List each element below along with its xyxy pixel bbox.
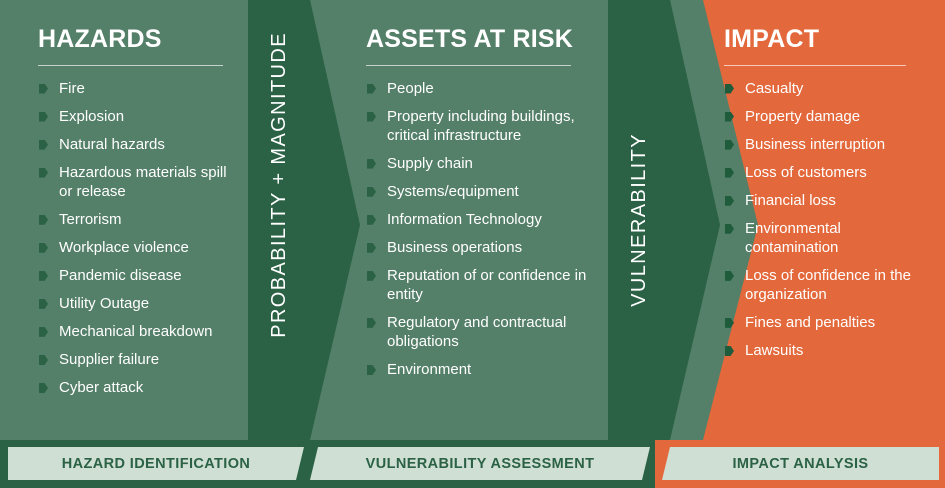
list-item-label: Utility Outage [59, 295, 149, 312]
arrow-bullet-icon [725, 168, 734, 178]
arrow-bullet-icon [725, 196, 734, 206]
list-item: Property including buildings, critical i… [366, 107, 598, 145]
list-item-label: Information Technology [387, 211, 542, 228]
arrow-bullet-icon [39, 112, 48, 122]
arrow-bullet-icon [367, 243, 376, 253]
impact-column: IMPACT Casualty Property damage Business… [724, 0, 924, 440]
hazards-list: Fire Explosion Natural hazards Hazardous… [38, 79, 243, 398]
list-item: Regulatory and contractual obligations [366, 313, 598, 351]
list-item-label: Natural hazards [59, 136, 165, 153]
list-item-label: Loss of customers [745, 164, 867, 181]
arrow-bullet-icon [725, 224, 734, 234]
list-item-label: Loss of confidence in the organization [745, 267, 911, 303]
list-item-label: Workplace violence [59, 239, 189, 256]
list-item: Loss of confidence in the organization [724, 266, 924, 304]
arrow-bullet-icon [39, 383, 48, 393]
list-item: Financial loss [724, 191, 924, 210]
list-item: Utility Outage [38, 294, 243, 313]
chevron-divider-vulnerability [608, 0, 720, 440]
process-footer-bar: HAZARD IDENTIFICATION VULNERABILITY ASSE… [0, 440, 945, 488]
list-item: Fines and penalties [724, 313, 924, 332]
list-item: Explosion [38, 107, 243, 126]
list-item-label: Business interruption [745, 136, 885, 153]
list-item-label: Regulatory and contractual obligations [387, 314, 566, 350]
list-item-label: Pandemic disease [59, 267, 182, 284]
arrow-bullet-icon [39, 327, 48, 337]
list-item: Property damage [724, 107, 924, 126]
list-item-label: Financial loss [745, 192, 836, 209]
arrow-bullet-icon [725, 112, 734, 122]
arrow-bullet-icon [367, 187, 376, 197]
assets-list: People Property including buildings, cri… [366, 79, 598, 380]
arrow-bullet-icon [367, 318, 376, 328]
list-item: Workplace violence [38, 238, 243, 257]
arrow-bullet-icon [367, 84, 376, 94]
arrow-bullet-icon [725, 318, 734, 328]
list-item-label: Business operations [387, 239, 522, 256]
list-item-label: Cyber attack [59, 379, 143, 396]
list-item: Cyber attack [38, 378, 243, 397]
list-item: People [366, 79, 598, 98]
arrow-bullet-icon [39, 215, 48, 225]
list-item: Pandemic disease [38, 266, 243, 285]
assets-title-rule [366, 65, 571, 66]
arrow-bullet-icon [367, 365, 376, 375]
list-item-label: Environment [387, 361, 471, 378]
list-item-label: Hazardous materials spill or release [59, 164, 227, 200]
list-item-label: Environmental contamination [745, 220, 841, 256]
list-item: Hazardous materials spill or release [38, 163, 243, 201]
arrow-bullet-icon [367, 112, 376, 122]
list-item-label: People [387, 80, 434, 97]
arrow-bullet-icon [39, 243, 48, 253]
list-item: Casualty [724, 79, 924, 98]
list-item: Loss of customers [724, 163, 924, 182]
list-item: Lawsuits [724, 341, 924, 360]
impact-title-rule [724, 65, 906, 66]
arrow-bullet-icon [39, 140, 48, 150]
list-item: Fire [38, 79, 243, 98]
list-item: Information Technology [366, 210, 598, 229]
arrow-bullet-icon [39, 168, 48, 178]
arrow-bullet-icon [725, 271, 734, 281]
arrow-bullet-icon [39, 355, 48, 365]
list-item-label: Casualty [745, 80, 803, 97]
list-item: Natural hazards [38, 135, 243, 154]
list-item-label: Property including buildings, critical i… [387, 108, 575, 144]
impact-list: Casualty Property damage Business interr… [724, 79, 924, 361]
list-item-label: Reputation of or confidence in entity [387, 267, 586, 303]
list-item-label: Systems/equipment [387, 183, 519, 200]
arrow-bullet-icon [367, 215, 376, 225]
list-item: Mechanical breakdown [38, 322, 243, 341]
list-item: Reputation of or confidence in entity [366, 266, 598, 304]
arrow-bullet-icon [725, 346, 734, 356]
risk-assessment-infographic: HAZARDS Fire Explosion Natural hazards H… [0, 0, 945, 488]
hazards-title-rule [38, 65, 223, 66]
footer-step-vulnerability-assessment: VULNERABILITY ASSESSMENT [310, 447, 650, 480]
list-item: Environment [366, 360, 598, 379]
list-item: Business interruption [724, 135, 924, 154]
list-item-label: Terrorism [59, 211, 122, 228]
arrow-bullet-icon [367, 159, 376, 169]
connector-label-vulnerability: VULNERABILITY [628, 133, 651, 307]
arrow-bullet-icon [39, 84, 48, 94]
list-item-label: Mechanical breakdown [59, 323, 212, 340]
list-item-label: Explosion [59, 108, 124, 125]
footer-step-impact-analysis: IMPACT ANALYSIS [662, 447, 939, 480]
assets-title: ASSETS AT RISK [366, 26, 598, 54]
hazards-title: HAZARDS [38, 26, 243, 54]
footer-step-hazard-identification: HAZARD IDENTIFICATION [8, 447, 304, 480]
list-item-label: Supply chain [387, 155, 473, 172]
list-item: Environmental contamination [724, 219, 924, 257]
arrow-bullet-icon [39, 271, 48, 281]
arrow-bullet-icon [39, 299, 48, 309]
hazards-column: HAZARDS Fire Explosion Natural hazards H… [38, 0, 243, 440]
arrow-bullet-icon [725, 140, 734, 150]
assets-column: ASSETS AT RISK People Property including… [366, 0, 598, 440]
connector-label-probability: PROBABILITY + MAGNITUDE [268, 32, 291, 338]
arrow-bullet-icon [725, 84, 734, 94]
list-item-label: Property damage [745, 108, 860, 125]
list-item: Terrorism [38, 210, 243, 229]
list-item: Supply chain [366, 154, 598, 173]
list-item: Business operations [366, 238, 598, 257]
arrow-bullet-icon [367, 271, 376, 281]
list-item-label: Supplier failure [59, 351, 159, 368]
list-item-label: Fines and penalties [745, 314, 875, 331]
list-item-label: Lawsuits [745, 342, 803, 359]
impact-title: IMPACT [724, 26, 924, 54]
list-item-label: Fire [59, 80, 85, 97]
list-item: Supplier failure [38, 350, 243, 369]
list-item: Systems/equipment [366, 182, 598, 201]
